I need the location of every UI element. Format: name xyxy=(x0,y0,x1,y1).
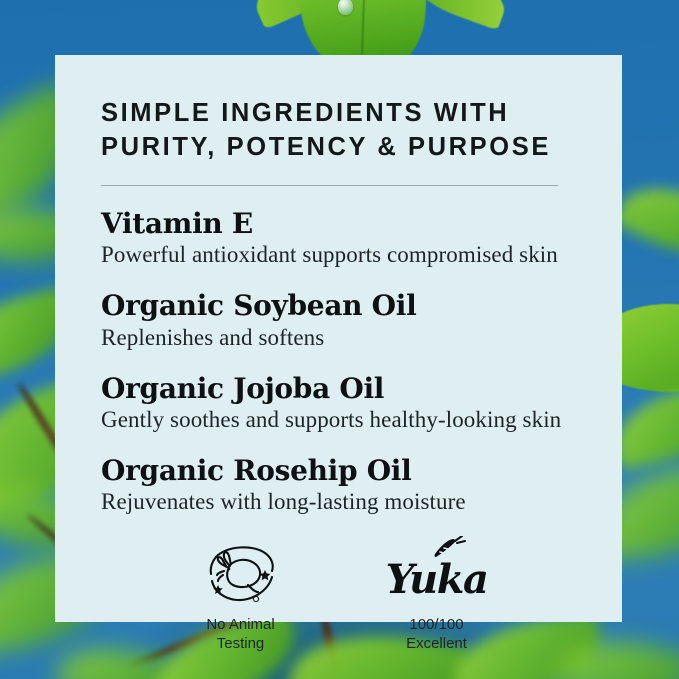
ingredient-card: SIMPLE INGREDIENTS WITH PURITY, POTENCY … xyxy=(55,55,622,622)
ingredient-name: Organic Soybean Oil xyxy=(101,290,576,321)
badge-caption: No Animal Testing xyxy=(206,616,274,653)
ingredient-description: Replenishes and softens xyxy=(101,324,576,352)
list-item: Organic Soybean Oil Replenishes and soft… xyxy=(101,290,576,351)
heading-divider xyxy=(101,185,558,186)
yuka-logo-icon: Yuka xyxy=(386,537,488,611)
ingredient-list: Vitamin E Powerful antioxidant supports … xyxy=(101,208,576,517)
badge-caption: 100/100 Excellent xyxy=(406,616,467,653)
leaf-decoration xyxy=(612,167,679,275)
ingredient-name: Organic Rosehip Oil xyxy=(101,455,576,486)
ingredient-description: Powerful antioxidant supports compromise… xyxy=(101,241,576,269)
ingredient-description: Gently soothes and supports healthy-look… xyxy=(101,406,576,434)
list-item: Organic Jojoba Oil Gently soothes and su… xyxy=(101,373,576,434)
water-droplet-icon xyxy=(338,0,353,15)
yuka-wordmark: Yuka xyxy=(386,560,488,600)
badge-no-animal-testing: No Animal Testing xyxy=(176,537,306,653)
page-title: SIMPLE INGREDIENTS WITH PURITY, POTENCY … xyxy=(101,97,576,165)
ingredient-name: Vitamin E xyxy=(101,208,576,239)
ingredient-name: Organic Jojoba Oil xyxy=(101,373,576,404)
leaping-bunny-icon xyxy=(202,537,280,611)
ingredient-description: Rejuvenates with long-lasting moisture xyxy=(101,488,576,516)
list-item: Vitamin E Powerful antioxidant supports … xyxy=(101,208,576,269)
certification-badges: No Animal Testing Yuka 100/100 Excellent xyxy=(101,537,576,653)
badge-yuka-score: Yuka 100/100 Excellent xyxy=(372,537,502,653)
list-item: Organic Rosehip Oil Rejuvenates with lon… xyxy=(101,455,576,516)
